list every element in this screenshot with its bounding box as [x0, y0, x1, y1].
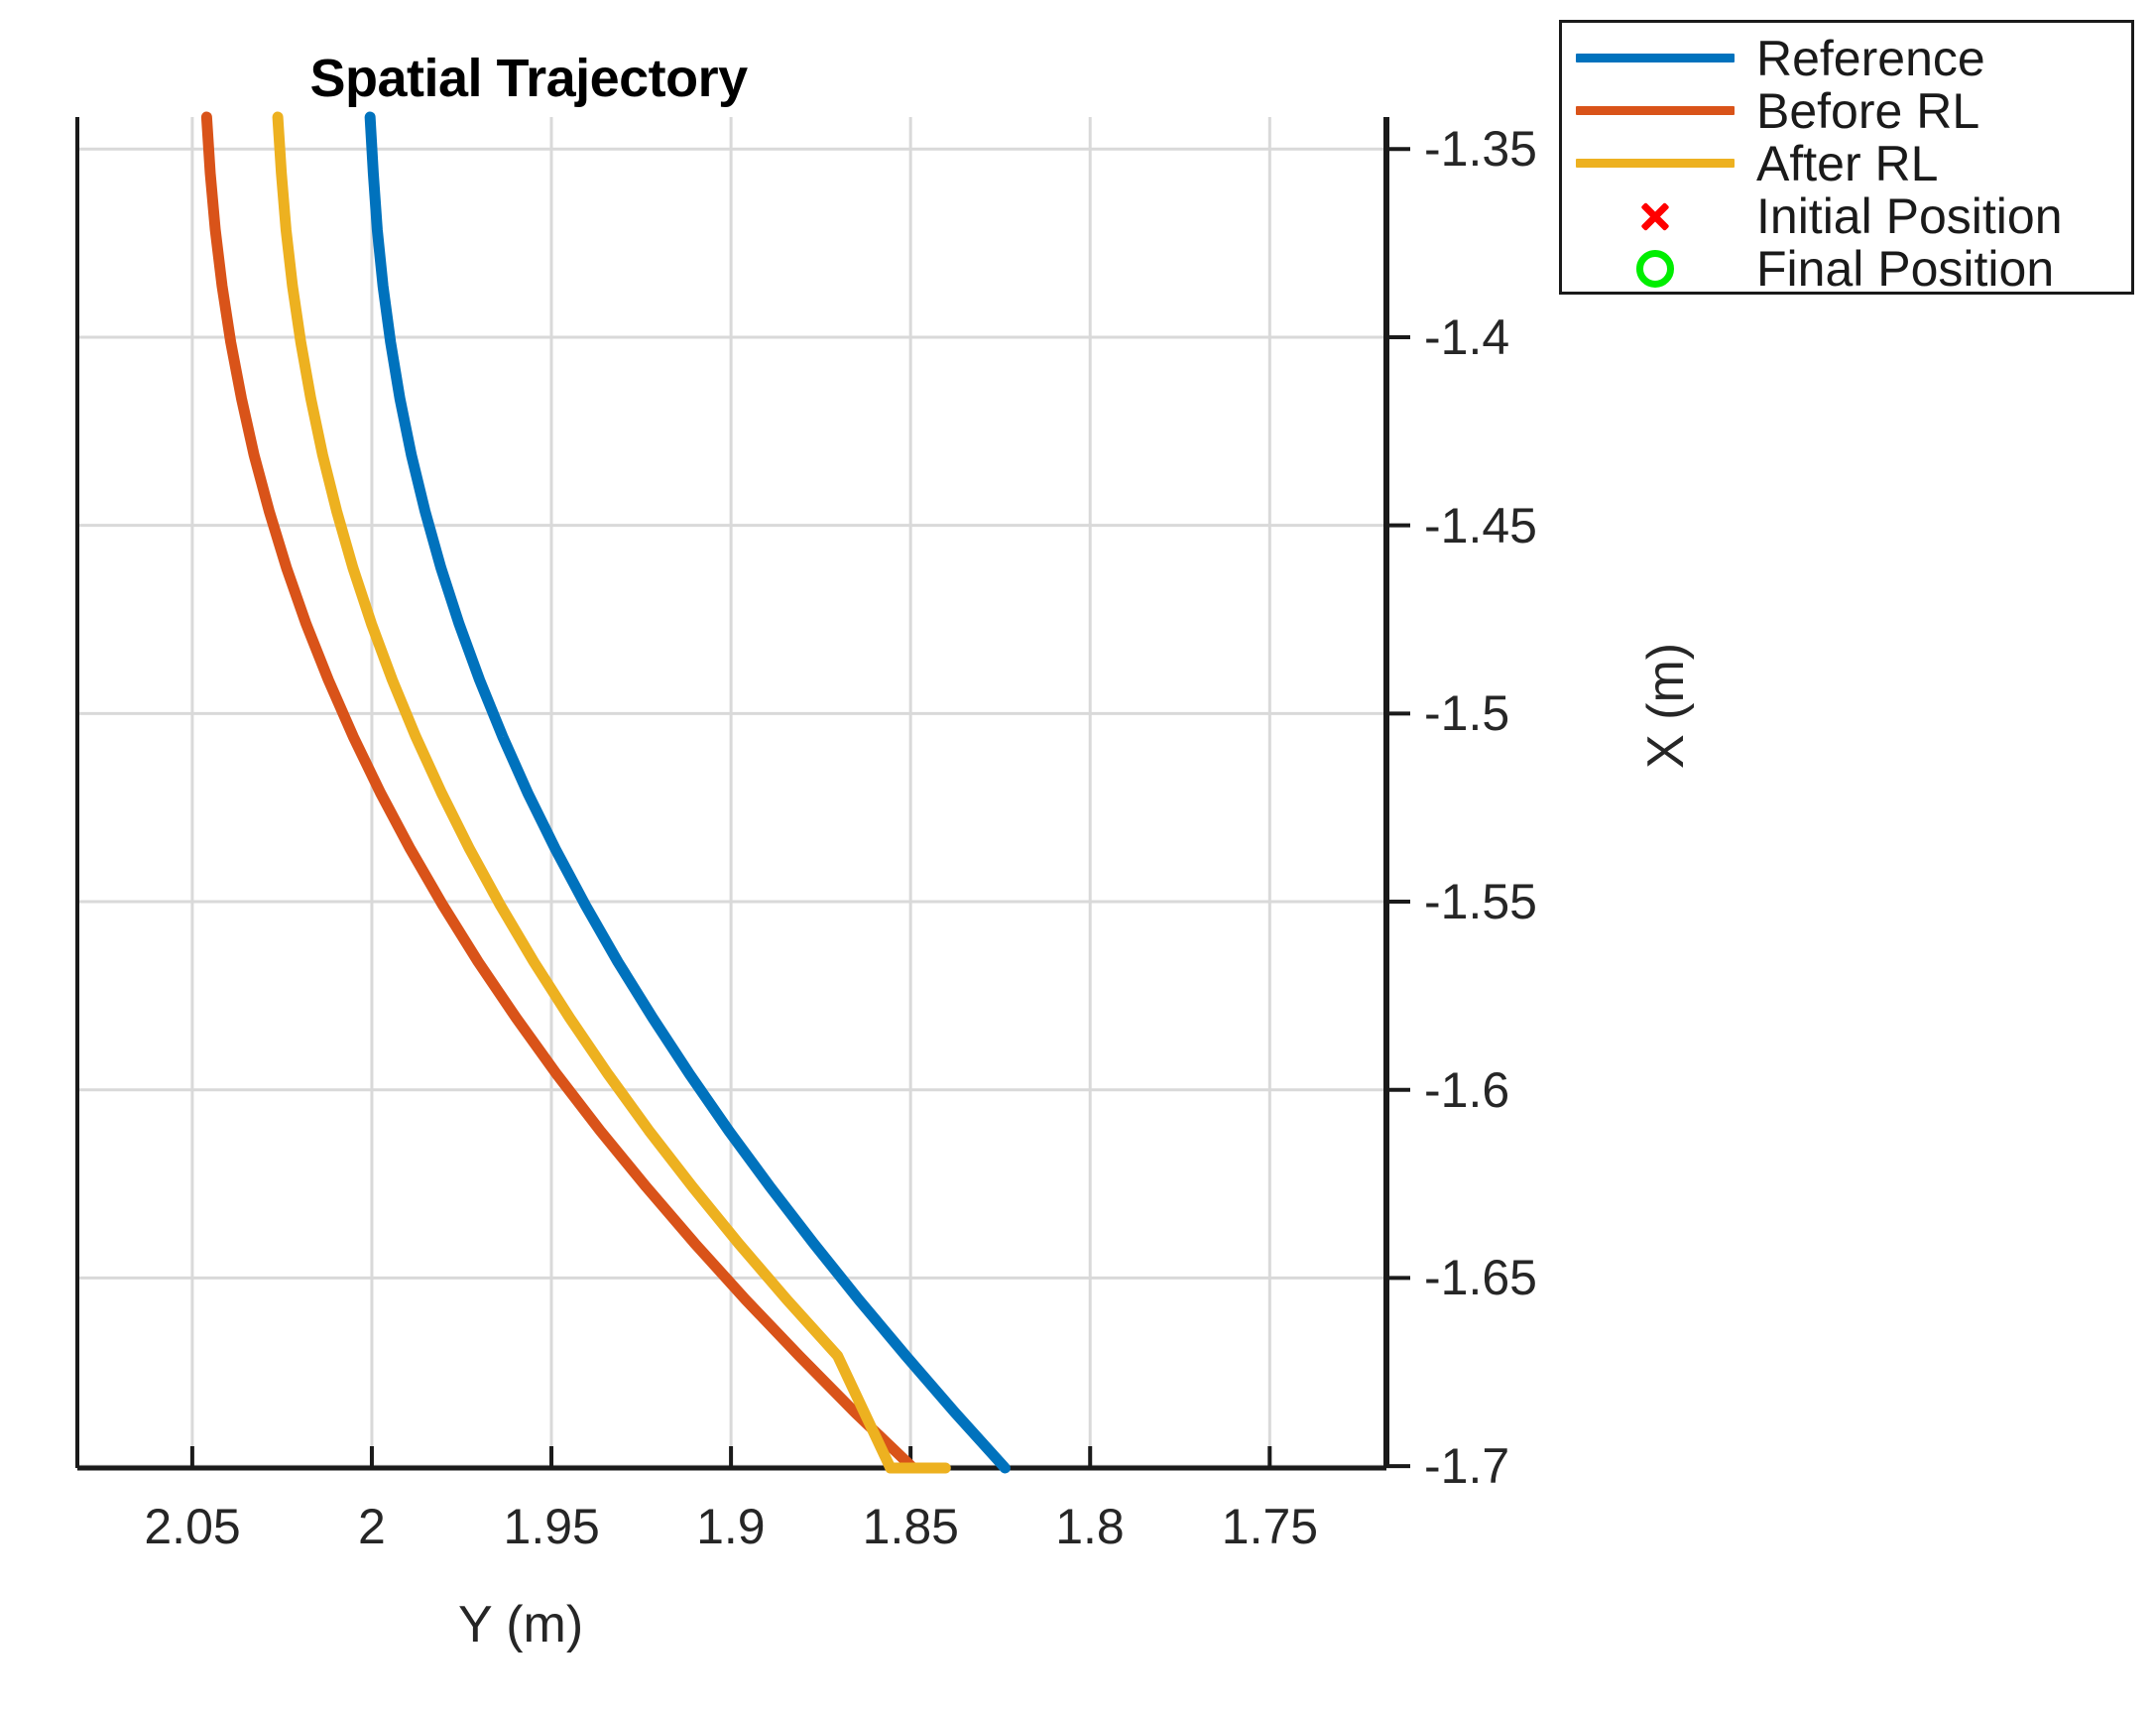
series-line-before-rl	[206, 117, 912, 1468]
legend-item-final-position[interactable]: Final Position	[1562, 241, 2131, 296]
legend-marker-initial	[1576, 188, 1735, 243]
legend-item-label: Before RL	[1756, 82, 1979, 140]
y-tick-label: -1.7	[1424, 1437, 1509, 1495]
y-tick-label: -1.6	[1424, 1061, 1509, 1119]
legend-marker-final	[1576, 241, 1735, 296]
legend-item-label: Final Position	[1756, 240, 2054, 298]
figure-canvas: Spatial Trajectory Y (m) X (m) 2.0521.95…	[0, 0, 2156, 1714]
x-tick-label: 2	[358, 1498, 386, 1555]
y-tick-label: -1.55	[1424, 873, 1537, 930]
x-tick-label: 1.95	[504, 1498, 600, 1555]
legend-item-after-rl[interactable]: After RL	[1562, 136, 2131, 190]
y-tick-label: -1.35	[1424, 120, 1537, 178]
y-tick-label: -1.45	[1424, 497, 1537, 554]
x-tick-label: 1.75	[1222, 1498, 1318, 1555]
legend-item-reference[interactable]: Reference	[1562, 31, 2131, 85]
legend-swatch	[1576, 31, 1735, 85]
legend-item-initial-position[interactable]: Initial Position	[1562, 188, 2131, 243]
legend-line-swatch	[1576, 159, 1735, 168]
circle-icon	[1636, 250, 1674, 288]
legend-swatch	[1576, 136, 1735, 190]
legend-line-swatch	[1576, 54, 1735, 62]
axis-ticks	[192, 149, 1410, 1468]
page-title: Spatial Trajectory	[310, 48, 748, 109]
chart-legend[interactable]: ReferenceBefore RLAfter RLInitial Positi…	[1559, 20, 2134, 295]
legend-item-label: Reference	[1756, 30, 1985, 87]
legend-swatch	[1576, 83, 1735, 138]
x-tick-label: 1.9	[696, 1498, 766, 1555]
y-tick-label: -1.65	[1424, 1249, 1537, 1306]
legend-item-label: Initial Position	[1756, 187, 2063, 245]
x-tick-label: 1.85	[863, 1498, 959, 1555]
y-tick-label: -1.5	[1424, 684, 1509, 742]
y-axis-label: X (m)	[1636, 642, 1696, 768]
grid-lines	[77, 117, 1386, 1468]
x-tick-label: 2.05	[144, 1498, 240, 1555]
x-axis-label: Y (m)	[458, 1595, 583, 1654]
cross-icon	[1638, 199, 1672, 233]
legend-item-before-rl[interactable]: Before RL	[1562, 83, 2131, 138]
legend-line-swatch	[1576, 106, 1735, 115]
y-tick-label: -1.4	[1424, 308, 1509, 366]
x-tick-label: 1.8	[1055, 1498, 1125, 1555]
legend-item-label: After RL	[1756, 135, 1938, 192]
data-series	[206, 117, 1005, 1468]
